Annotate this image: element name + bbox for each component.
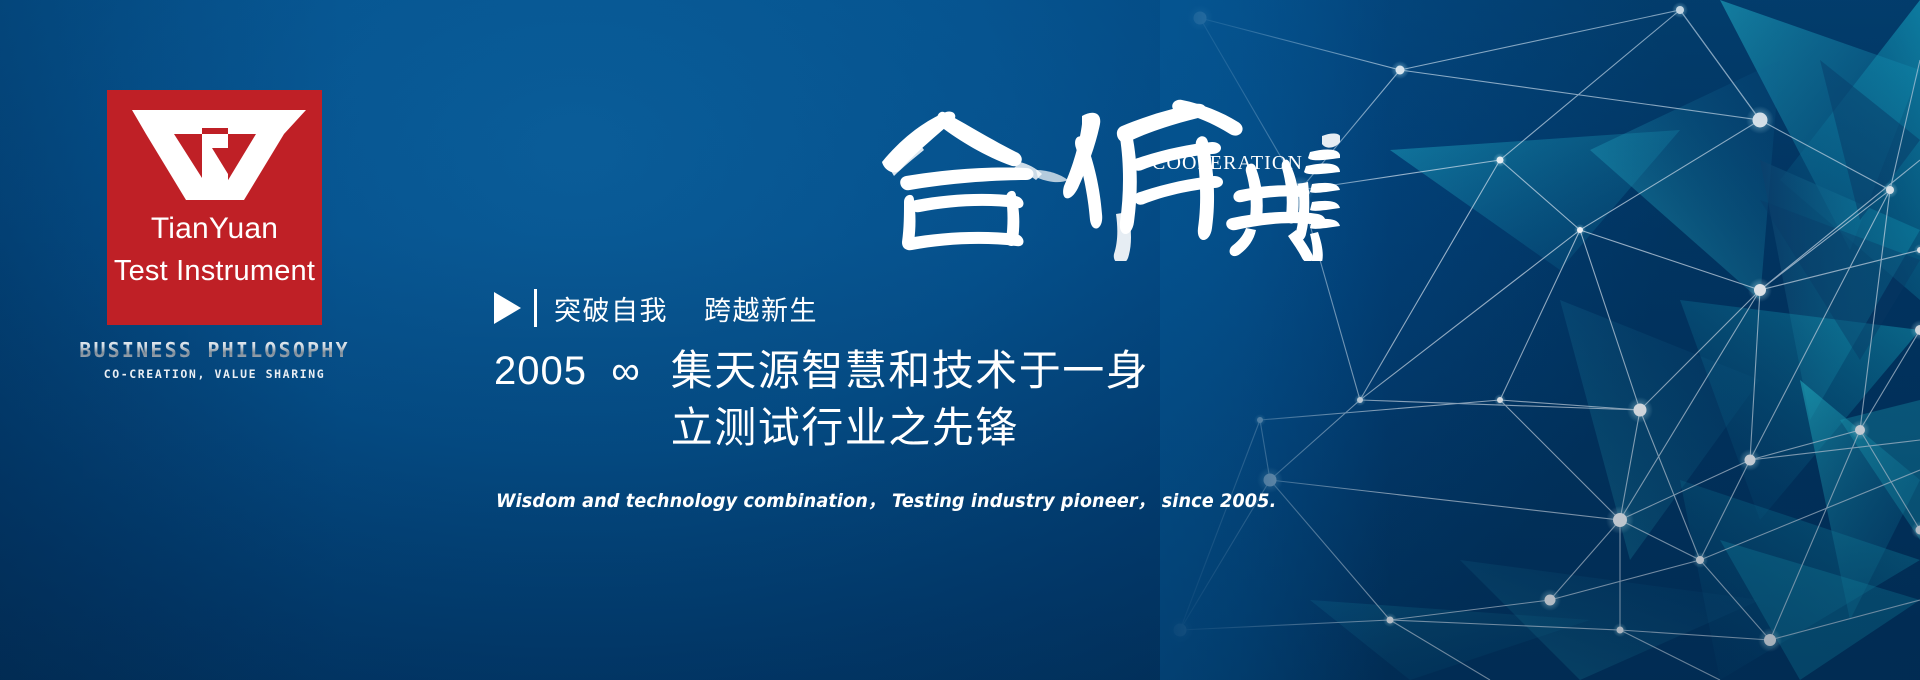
headline-line-2: 立测试行业之先锋 [671,404,1019,451]
philosophy-heading: BUSINESS PHILOSOPHY [62,338,367,362]
year-infinity-label: 2005 ∞ [494,342,641,398]
logo-company-name: TianYuan Test Instrument [107,208,322,292]
logo-name-line2: Test Instrument [107,250,322,292]
philosophy-subheading: CO-CREATION, VALUE SHARING [62,367,367,381]
business-philosophy-block: BUSINESS PHILOSOPHY CO-CREATION, VALUE S… [62,338,367,381]
vertical-rule-divider [534,289,537,327]
headline-lines: 集天源智慧和技术于一身 立测试行业之先锋 [671,342,1194,456]
headline-line-1: 集天源智慧和技术于一身 [671,347,1150,394]
headline-row: 2005 ∞ 集天源智慧和技术于一身 立测试行业之先锋 [494,342,1194,456]
ty-monogram-icon [124,104,306,202]
promotional-banner: TianYuan Test Instrument BUSINESS PHILOS… [0,0,1920,680]
logo-name-line1: TianYuan [151,212,278,245]
english-subline: Wisdom and technology combination， Testi… [496,486,1145,513]
kicker-row: 突破自我 跨越新生 [494,286,1194,330]
kicker-text: 突破自我 跨越新生 [554,289,818,328]
company-logo-block: TianYuan Test Instrument BUSINESS PHILOS… [107,90,322,325]
headline-copy-block: 突破自我 跨越新生 2005 ∞ 集天源智慧和技术于一身 立测试行业之先锋 Wi… [494,286,1194,513]
play-triangle-icon [494,292,521,324]
calligraphy-cooperation-win-win [870,96,1340,261]
logo-card: TianYuan Test Instrument [107,90,322,325]
cooperation-label: COOPERATION [1152,152,1303,175]
